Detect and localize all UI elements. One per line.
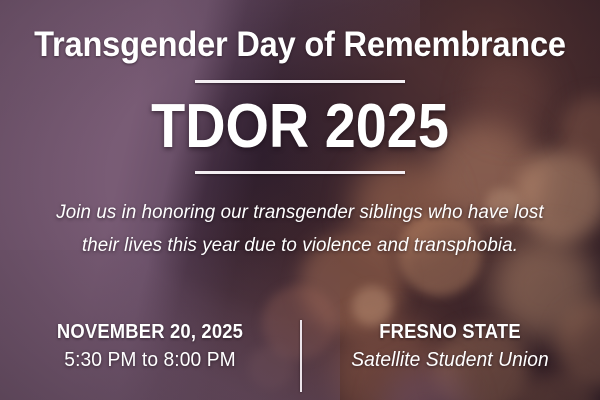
event-venue-location: Satellite Student Union [306, 345, 594, 375]
event-description: Join us in honoring our transgender sibl… [39, 196, 561, 262]
event-date: NOVEMBER 20, 2025 [12, 319, 288, 345]
details-vertical-divider [300, 320, 302, 392]
event-title: TDOR 2025 [30, 94, 570, 160]
divider-rule-bottom [195, 171, 405, 174]
poster-headline: Transgender Day of Remembrance [21, 25, 579, 65]
divider-rule-top [195, 80, 405, 83]
event-venue-organization: FRESNO STATE [312, 319, 588, 345]
poster-content: Transgender Day of Remembrance TDOR 2025… [0, 0, 600, 400]
detail-when: NOVEMBER 20, 2025 5:30 PM to 8:00 PM [0, 318, 300, 375]
poster-canvas: Transgender Day of Remembrance TDOR 2025… [0, 0, 600, 400]
detail-where: FRESNO STATE Satellite Student Union [300, 318, 600, 375]
event-time: 5:30 PM to 8:00 PM [6, 345, 294, 375]
event-details: NOVEMBER 20, 2025 5:30 PM to 8:00 PM FRE… [0, 318, 600, 394]
